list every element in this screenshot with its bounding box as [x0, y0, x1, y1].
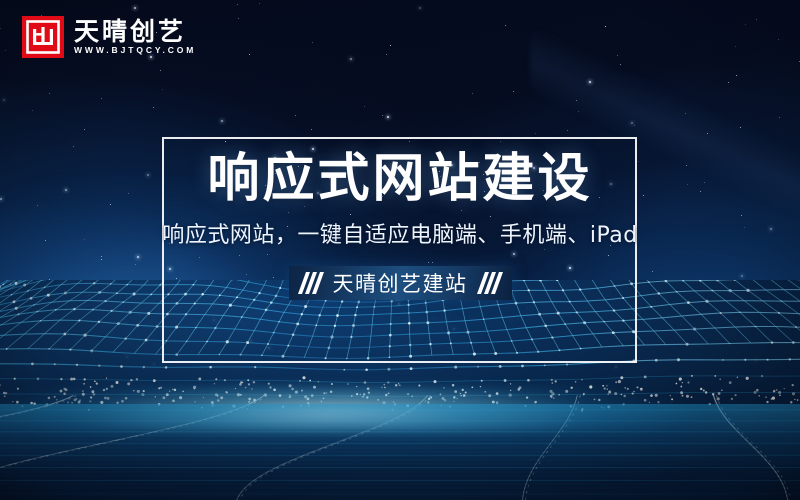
logo-company-name: 天晴创艺	[74, 19, 196, 44]
brand-logo[interactable]: 天晴创艺 WWW.BJTQCY.COM	[22, 16, 196, 58]
hero-frame-border	[162, 137, 637, 363]
banner-canvas: 天晴创艺 WWW.BJTQCY.COM 响应式网站建设 响应式网站，一键自适应电…	[0, 0, 800, 500]
logo-website-url: WWW.BJTQCY.COM	[74, 46, 196, 55]
tqcy-square-logo-icon	[22, 16, 64, 58]
logo-text-block: 天晴创艺 WWW.BJTQCY.COM	[74, 19, 196, 55]
